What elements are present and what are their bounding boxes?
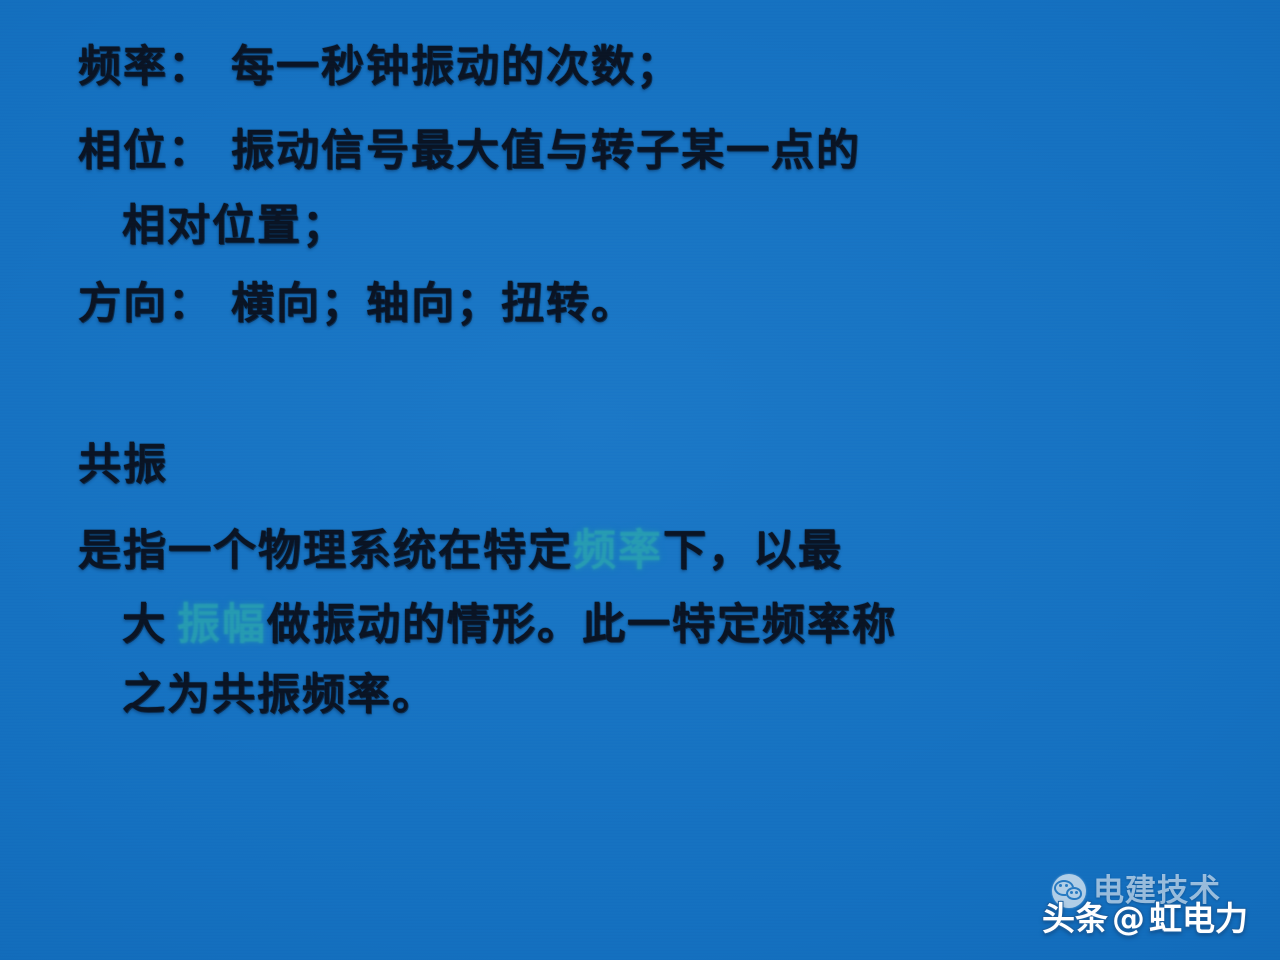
paragraph-text-e: 之为共振频率。 (122, 670, 437, 720)
paragraph-line-3: 之为共振频率。 (122, 674, 437, 717)
definition-text-direction: 横向；轴向；扭转。 (231, 279, 636, 329)
definition-line-phase-continued: 相对位置； (122, 205, 347, 248)
paragraph-text-c: 大 (122, 600, 167, 650)
at-symbol-icon: @ (1112, 902, 1145, 935)
watermark-account-label: 虹电力 (1149, 902, 1248, 935)
paragraph-text-a: 是指一个物理系统在特定 (78, 526, 573, 576)
definition-line-frequency: 频率：每一秒钟振动的次数； (78, 46, 681, 89)
paragraph-text-d: 做振动的情形。此一特定频率称 (267, 600, 897, 650)
slide-body: 频率：每一秒钟振动的次数； 相位：振动信号最大值与转子某一点的 相对位置； 方向… (0, 0, 1280, 960)
definition-text-phase-continued: 相对位置； (122, 201, 347, 251)
definition-line-phase: 相位：振动信号最大值与转子某一点的 (78, 130, 861, 173)
section-heading-label: 共振 (78, 440, 168, 490)
definition-line-direction: 方向：横向；轴向；扭转。 (78, 283, 636, 326)
definition-term-direction: 方向： (78, 279, 213, 329)
paragraph-line-1: 是指一个物理系统在特定频率下，以最 (78, 530, 843, 573)
definition-term-frequency: 频率： (78, 42, 213, 92)
definition-text-phase: 振动信号最大值与转子某一点的 (231, 126, 861, 176)
section-heading-resonance: 共振 (78, 444, 168, 487)
watermark-platform-label: 头条 (1042, 902, 1108, 935)
watermark-account: 头条 @ 虹电力 (1042, 902, 1248, 935)
definition-term-phase: 相位： (78, 126, 213, 176)
definition-text-frequency: 每一秒钟振动的次数； (231, 42, 681, 92)
link-amplitude[interactable]: 振幅 (177, 600, 267, 650)
link-frequency[interactable]: 频率 (573, 526, 663, 576)
presentation-slide: 频率：每一秒钟振动的次数； 相位：振动信号最大值与转子某一点的 相对位置； 方向… (0, 0, 1280, 960)
paragraph-line-2: 大振幅做振动的情形。此一特定频率称 (122, 604, 897, 647)
paragraph-text-b: 下，以最 (663, 526, 843, 576)
